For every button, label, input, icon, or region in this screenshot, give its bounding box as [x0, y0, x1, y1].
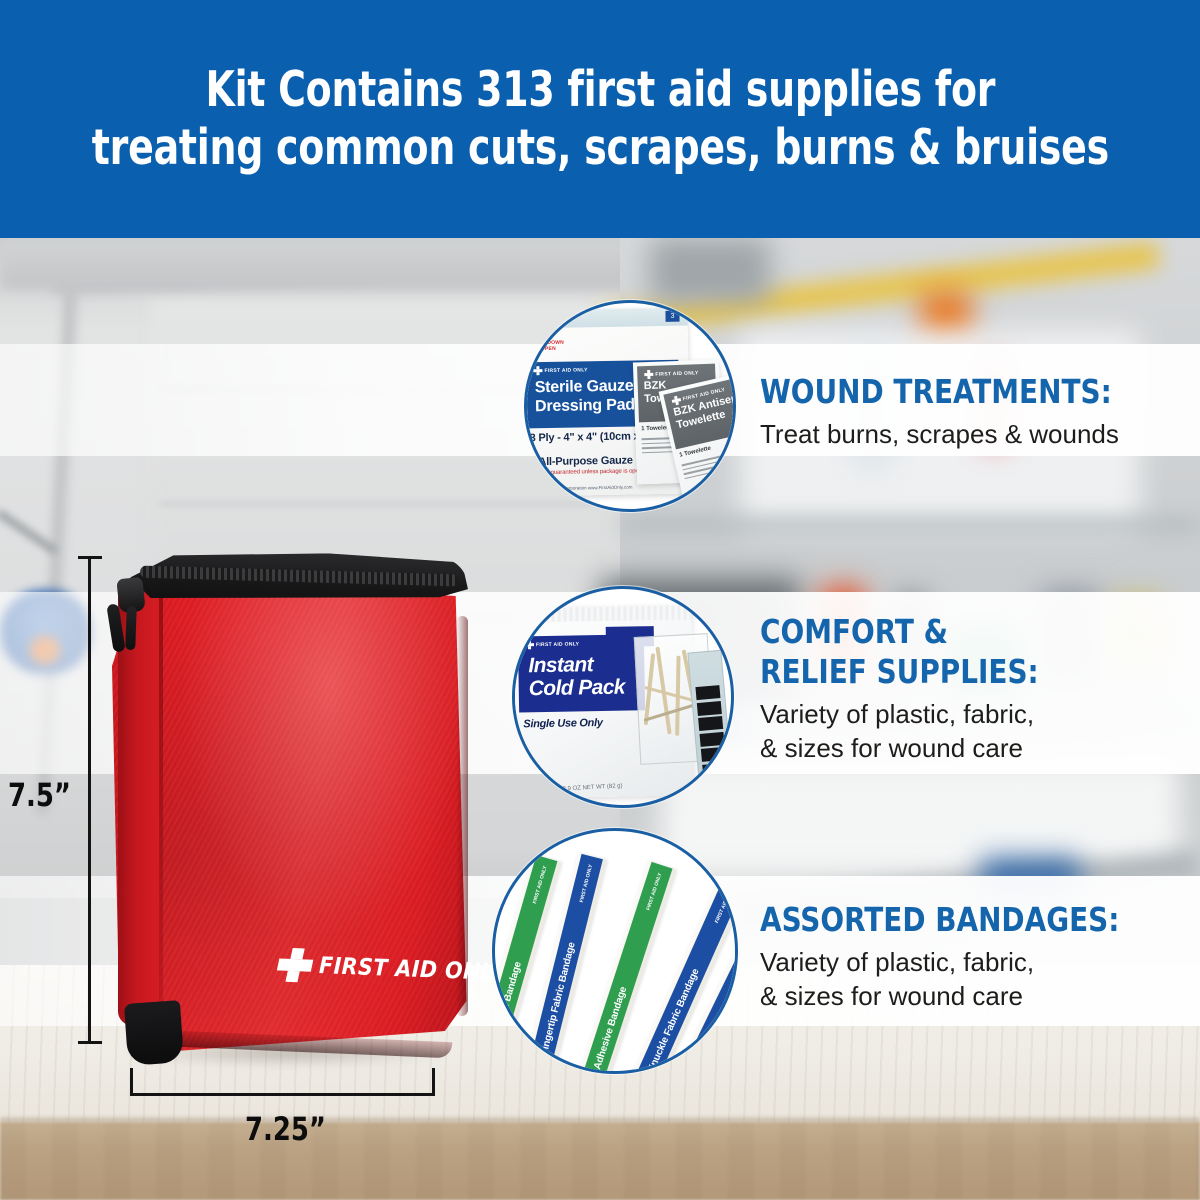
- bag-bottom-grab-tab: [124, 1000, 184, 1066]
- feature-3-heading: ASSORTED BANDAGES:: [760, 900, 1119, 940]
- gauze-brand-name: FIRST AID ONLY: [544, 367, 587, 374]
- first-aid-cross-icon: [274, 948, 315, 983]
- height-dimension-cap-bottom: [78, 1041, 102, 1044]
- feature-1-body-line-1: Treat burns, scrapes & wounds: [760, 417, 1134, 451]
- feature-1-heading: WOUND TREATMENTS:: [760, 372, 1112, 412]
- header-line-1: Kit Contains 313 first aid supplies for: [91, 61, 1108, 119]
- gauze-product-title: Sterile Gauze Dressing Pads: [535, 376, 644, 416]
- feature-comfort-relief: COMFORT & RELIEF SUPPLIES: Variety of pl…: [760, 612, 1057, 765]
- width-dimension-label: 7.25”: [245, 1110, 326, 1148]
- callout-3-contents: Adhesive Bandage FIRST AID ONLY Fingerti…: [495, 831, 735, 1071]
- gauze-package-badge: 3: [665, 311, 679, 322]
- feature-3-body-line-1: Variety of plastic, fabric,: [760, 945, 1142, 979]
- cold-pack-brand-name: FIRST AID ONLY: [536, 641, 579, 648]
- cold-pack-seal: [512, 605, 692, 622]
- height-dimension-cap-top: [78, 556, 102, 559]
- cold-pack-title-line-1: Instant: [528, 653, 593, 677]
- width-dimension-line: [130, 1093, 435, 1096]
- callout-1-contents: 3 PEEL DOWN TO OPEN FIRST AID ONLY Steri…: [527, 303, 733, 509]
- feature-2-body-line-2: & sizes for wound care: [760, 731, 1057, 765]
- height-dimension-line: [88, 556, 91, 1044]
- peel-line-2: TO OPEN: [532, 346, 556, 352]
- cold-pack-title: Instant Cold Pack: [528, 653, 625, 701]
- background-shelf-rail: [620, 518, 1200, 532]
- gauze-count: 2 All-Purpose Gauze: [530, 455, 633, 469]
- header-banner: Kit Contains 313 first aid supplies for …: [0, 0, 1200, 238]
- gauze-title-line-2: Dressing Pads: [535, 396, 644, 415]
- bandage-wrapper-label: Adhesive Bandage: [492, 961, 524, 1047]
- cold-pack-brand-logo: FIRST AID ONLY: [525, 639, 579, 649]
- width-dimension-cap-left: [130, 1068, 133, 1096]
- bandage-wrapper-label: Adhesive Bandage: [592, 985, 629, 1070]
- first-aid-cross-icon: [525, 640, 534, 649]
- callout-circle-wound-treatments: 3 PEEL DOWN TO OPEN FIRST AID ONLY Steri…: [524, 300, 736, 512]
- bandage-wrapper-label: Fingertip Fabric Bandage: [539, 941, 578, 1056]
- header-banner-text: Kit Contains 313 first aid supplies for …: [91, 61, 1108, 177]
- bag-brand-name: FIRST AID ONLY®: [319, 953, 516, 986]
- gauze-package-seal: [524, 308, 688, 329]
- bag-zipper-tab-secondary: [125, 606, 137, 650]
- counter-front-edge: [0, 1122, 1200, 1200]
- first-aid-cross-icon: [644, 370, 653, 379]
- gauze-brand-logo: FIRST AID ONLY: [533, 365, 587, 375]
- thermometer-strip: [687, 650, 732, 782]
- bandage-wrapper-brand: FIRST AID ONLY: [579, 864, 594, 903]
- cold-pack-subtitle: Single Use Only: [523, 717, 602, 730]
- infographic-canvas: Kit Contains 313 first aid supplies for …: [0, 0, 1200, 1200]
- bandage-wrapper-brand: FIRST AID ONLY: [532, 865, 549, 904]
- background-shelf-item: [650, 238, 770, 304]
- first-aid-cross-icon: [533, 366, 542, 375]
- bzk-brand-logo: FIRST AID ONLY: [644, 368, 699, 379]
- callout-circle-assorted-bandages: Adhesive Bandage FIRST AID ONLY Fingerti…: [492, 828, 738, 1074]
- callout-circle-comfort-relief: FIRST AID ONLY Instant Cold Pack Single …: [512, 586, 734, 808]
- feature-3-body-line-2: & sizes for wound care: [760, 979, 1142, 1013]
- feature-2-heading-line-2: RELIEF SUPPLIES:: [760, 652, 1039, 692]
- cold-pack-title-line-2: Cold Pack: [529, 676, 626, 701]
- cold-pack-footer: 1 Pack 2.9 OZ NET WT (82 g): [542, 783, 622, 793]
- thermometer-scale: [695, 685, 727, 780]
- gauze-title-line-1: Sterile Gauze: [535, 378, 634, 397]
- bandage-wrapper-brand: FIRST AID ONLY: [646, 872, 664, 911]
- header-line-2: treating common cuts, scrapes, burns & b…: [91, 119, 1108, 177]
- height-dimension-label: 7.5”: [8, 776, 71, 814]
- feature-2-body-line-1: Variety of plastic, fabric,: [760, 697, 1057, 731]
- gauze-footer: © First Aid Only Corporation www.FirstAi…: [530, 485, 632, 492]
- width-dimension-cap-right: [432, 1068, 435, 1096]
- bandage-wrapper-brand: FIRST AID ONLY: [714, 886, 735, 924]
- feature-2-heading-line-1: COMFORT &: [760, 612, 1039, 652]
- feature-assorted-bandages: ASSORTED BANDAGES: Variety of plastic, f…: [760, 900, 1142, 1013]
- feature-wound-treatments: WOUND TREATMENTS: Treat burns, scrapes &…: [760, 372, 1134, 451]
- first-aid-kit-bag: FIRST AID ONLY®: [112, 556, 470, 1056]
- cold-pack-label-block: FIRST AID ONLY Instant Cold Pack: [518, 634, 645, 712]
- callout-2-contents: FIRST AID ONLY Instant Cold Pack Single …: [515, 589, 731, 805]
- bag-side-seam: [159, 588, 163, 1018]
- gauze-peel-instruction: PEEL DOWN TO OPEN: [532, 340, 564, 353]
- bzk-brand-name: FIRST AID ONLY: [655, 370, 698, 378]
